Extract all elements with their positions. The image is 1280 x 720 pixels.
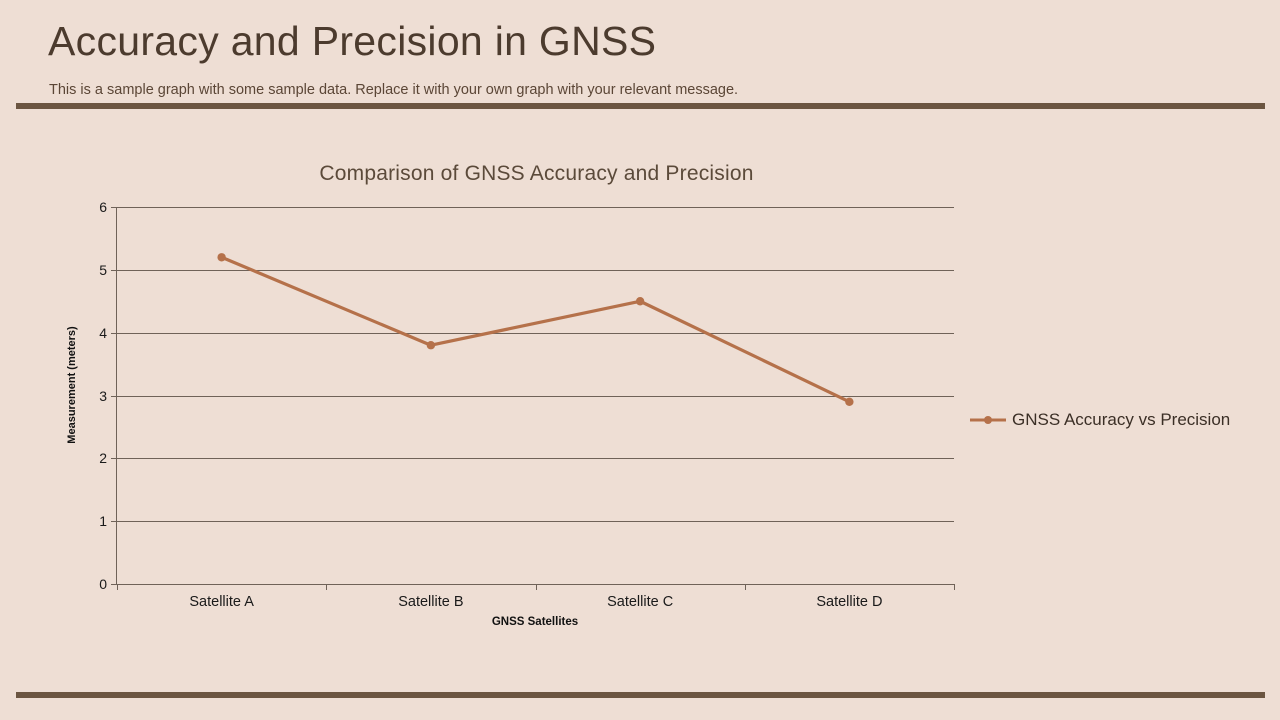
x-axis-tick xyxy=(117,584,118,590)
x-axis-tick-label: Satellite B xyxy=(398,594,463,610)
y-axis-tick-label: 1 xyxy=(99,513,107,529)
chart-legend: GNSS Accuracy vs Precision xyxy=(970,410,1230,430)
chart-title: Comparison of GNSS Accuracy and Precisio… xyxy=(0,162,1073,186)
y-axis-tick-label: 6 xyxy=(99,199,107,215)
x-axis-tick xyxy=(954,584,955,590)
x-axis-tick xyxy=(745,584,746,590)
x-axis-tick xyxy=(536,584,537,590)
footer-divider xyxy=(16,692,1265,698)
data-point-marker xyxy=(636,297,644,305)
series-line xyxy=(222,257,850,402)
page-title: Accuracy and Precision in GNSS xyxy=(48,18,656,65)
data-point-marker xyxy=(427,341,435,349)
x-axis-tick xyxy=(326,584,327,590)
x-axis-tick-label: Satellite C xyxy=(607,594,673,610)
y-axis-title: Measurement (meters) xyxy=(66,326,78,443)
chart-container: Comparison of GNSS Accuracy and Precisio… xyxy=(0,110,1280,690)
data-point-marker xyxy=(217,253,225,261)
y-axis-tick-label: 4 xyxy=(99,325,107,341)
header-divider xyxy=(16,103,1265,109)
x-axis-tick-label: Satellite D xyxy=(816,594,882,610)
page-subtitle: This is a sample graph with some sample … xyxy=(49,82,738,98)
line-series xyxy=(117,207,954,584)
plot-area: 0123456 Satellite ASatellite BSatellite … xyxy=(117,207,954,584)
legend-marker-icon xyxy=(970,413,1006,427)
y-axis-tick-label: 2 xyxy=(99,450,107,466)
data-point-marker xyxy=(845,398,853,406)
legend-item-label: GNSS Accuracy vs Precision xyxy=(1012,410,1230,430)
y-axis-tick-label: 5 xyxy=(99,262,107,278)
x-axis-tick-label: Satellite A xyxy=(189,594,254,610)
x-axis-title: GNSS Satellites xyxy=(492,616,578,628)
y-axis-tick-label: 0 xyxy=(99,576,107,592)
y-axis-tick-label: 3 xyxy=(99,388,107,404)
